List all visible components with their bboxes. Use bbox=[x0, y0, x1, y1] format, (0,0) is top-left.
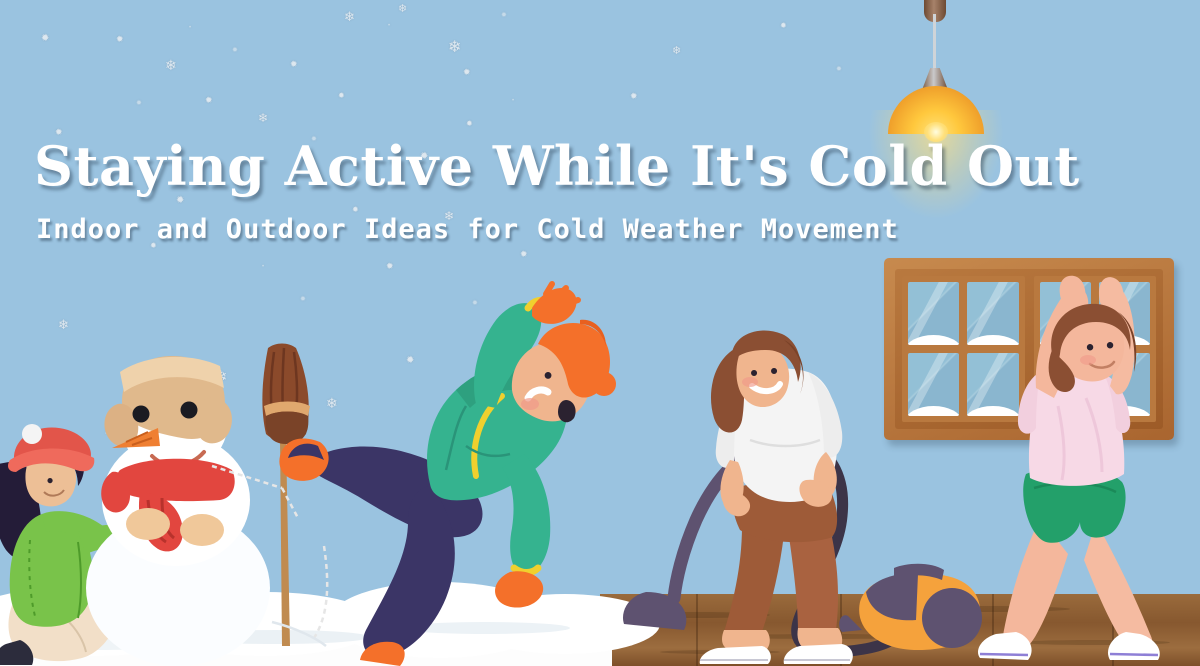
snowflake-icon: ✹ bbox=[386, 262, 394, 271]
snowflake-icon: ✹ bbox=[501, 12, 507, 19]
snowflake-icon: • bbox=[189, 25, 191, 31]
snowflake-icon: ✹ bbox=[780, 22, 787, 30]
man-slipping bbox=[280, 286, 600, 666]
woman-vacuuming bbox=[680, 330, 980, 666]
pendant-lamp bbox=[900, 0, 1010, 150]
man-arm-down bbox=[502, 454, 550, 575]
snowflake-icon: ✹ bbox=[116, 35, 124, 44]
snowflake-icon: ❄ bbox=[398, 4, 407, 15]
snowflake-icon: ❄ bbox=[258, 112, 268, 124]
snowflake-icon: ✹ bbox=[338, 92, 345, 100]
snowflake-icon: ✹ bbox=[630, 92, 638, 101]
snowman bbox=[78, 352, 278, 666]
snowflake-icon: ❄ bbox=[344, 10, 355, 23]
winter-activity-banner: ✹•✹❄✹❄✹✹❄❄✹•✹✹✹❄✹✹✹✹•❄✹✹❄✹✹❄✹✹❄✹✹✹❄❄✹✹•✹… bbox=[0, 0, 1200, 666]
snowflake-icon: ✹ bbox=[290, 60, 298, 69]
snowflake-icon: ✹ bbox=[352, 206, 359, 214]
snowman-eye-left bbox=[133, 406, 150, 423]
page-title: Staying Active While It's Cold Out bbox=[34, 134, 1080, 198]
vac-woman-shoes bbox=[700, 644, 853, 664]
snowflake-icon: ❄ bbox=[165, 58, 177, 72]
snowflake-icon: ❄ bbox=[58, 318, 69, 331]
woman-stretching bbox=[1000, 282, 1190, 666]
man-leg-front bbox=[363, 486, 455, 658]
snowflake-icon: ✹ bbox=[463, 68, 471, 77]
snowflake-icon: ✹ bbox=[520, 250, 528, 259]
page-subtitle: Indoor and Outdoor Ideas for Cold Weathe… bbox=[36, 214, 899, 245]
snowflake-icon: • bbox=[388, 23, 390, 29]
man-hand-down bbox=[495, 571, 543, 607]
snowflake-icon: ❄ bbox=[672, 46, 681, 57]
snowflake-icon: ✹ bbox=[205, 96, 213, 105]
snowflake-icon: ✹ bbox=[136, 100, 142, 107]
snowflake-icon: ❄ bbox=[448, 40, 461, 56]
vacuum-canister bbox=[839, 564, 982, 650]
vac-woman-legs bbox=[722, 526, 842, 650]
snowflake-icon: ✹ bbox=[836, 66, 842, 73]
snowman-eye-right bbox=[181, 402, 198, 419]
man-hand-up bbox=[532, 284, 578, 324]
snowflake-icon: ✹ bbox=[466, 120, 473, 128]
snowflake-icon: • bbox=[512, 98, 514, 104]
lamp-cord bbox=[933, 14, 936, 74]
snowflake-icon: ✹ bbox=[41, 34, 49, 44]
snowflake-icon: ✹ bbox=[232, 47, 238, 54]
snowman-hat bbox=[104, 356, 232, 446]
stretch-woman-shoes bbox=[978, 632, 1160, 660]
snowflake-icon: • bbox=[262, 264, 264, 270]
